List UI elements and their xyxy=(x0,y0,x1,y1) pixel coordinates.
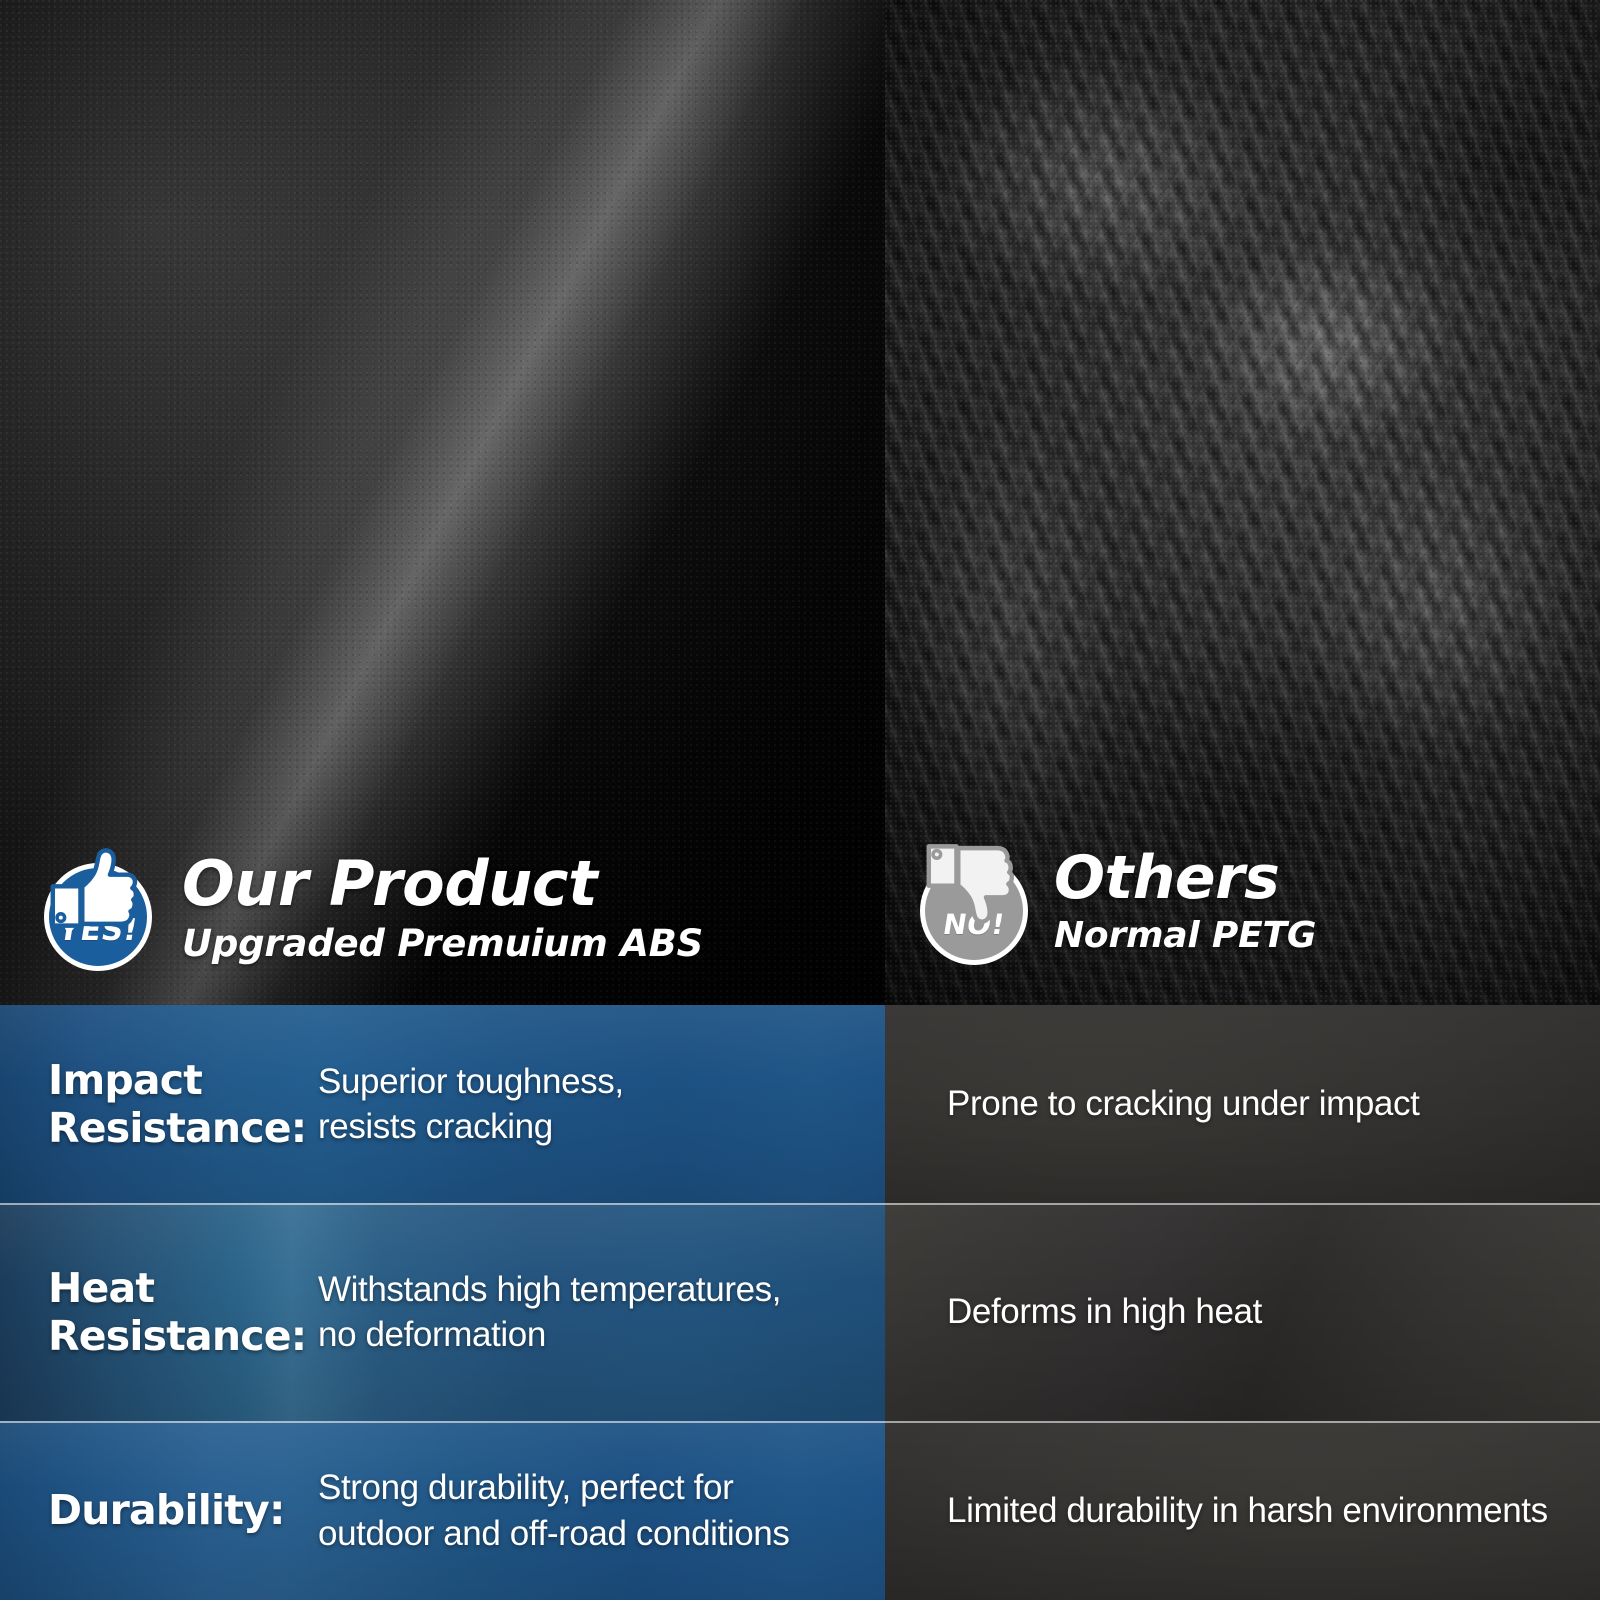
row-2-our-value-line-1: Withstands high temperatures, xyxy=(318,1270,781,1309)
others-title: Others xyxy=(1054,848,1316,908)
table-row: Durability: Strong durability, perfect f… xyxy=(0,1421,1600,1600)
row-3-others-cell: Limited durability in harsh environments xyxy=(885,1421,1600,1600)
our-product-subtitle: Upgraded Premuium ABS xyxy=(182,925,703,962)
row-1-label: Impact Resistance: xyxy=(0,1056,318,1153)
row-1-label-line-1: Impact xyxy=(48,1056,202,1104)
row-2-label-line-2: Resistance: xyxy=(48,1312,306,1360)
table-row: Heat Resistance: Withstands high tempera… xyxy=(0,1203,1600,1421)
others-badge-group: NO! Others Normal PETG xyxy=(920,845,1316,957)
row-2-others-cell: Deforms in high heat xyxy=(885,1203,1600,1421)
yes-badge: YES! xyxy=(44,851,156,963)
row-2-our-product-cell: Heat Resistance: Withstands high tempera… xyxy=(0,1203,885,1421)
thumbs-up-icon xyxy=(48,847,138,931)
row-1-label-line-2: Resistance: xyxy=(48,1104,306,1152)
row-3-our-value-line-2: outdoor and off-road conditions xyxy=(318,1514,789,1553)
row-divider-1 xyxy=(0,1203,1600,1205)
row-1-our-value-line-1: Superior toughness, xyxy=(318,1062,624,1101)
hero-photo-band: YES! Our Product Upgraded Premuium ABS xyxy=(0,0,1600,1005)
table-row: Impact Resistance: Superior toughness, r… xyxy=(0,1005,1600,1203)
no-badge: NO! xyxy=(920,845,1032,957)
row-1-others-cell: Prone to cracking under impact xyxy=(885,1005,1600,1203)
row-2-our-value: Withstands high temperatures, no deforma… xyxy=(318,1267,811,1358)
row-divider-2 xyxy=(0,1421,1600,1423)
row-2-our-value-line-2: no deformation xyxy=(318,1315,546,1354)
comparison-table: Impact Resistance: Superior toughness, r… xyxy=(0,1005,1600,1600)
row-3-label: Durability: xyxy=(0,1486,318,1534)
row-3-our-value: Strong durability, perfect for outdoor a… xyxy=(318,1465,819,1556)
row-1-our-product-cell: Impact Resistance: Superior toughness, r… xyxy=(0,1005,885,1203)
our-product-text-block: Our Product Upgraded Premuium ABS xyxy=(182,853,703,962)
product-comparison-infographic: YES! Our Product Upgraded Premuium ABS xyxy=(0,0,1600,1600)
thumbs-down-icon xyxy=(924,841,1014,925)
our-product-badge-group: YES! Our Product Upgraded Premuium ABS xyxy=(44,851,703,963)
others-subtitle: Normal PETG xyxy=(1054,918,1316,954)
row-3-label-line-1: Durability: xyxy=(48,1486,285,1534)
row-3-our-product-cell: Durability: Strong durability, perfect f… xyxy=(0,1421,885,1600)
row-2-label-line-1: Heat xyxy=(48,1264,154,1312)
row-3-our-value-line-1: Strong durability, perfect for xyxy=(318,1468,733,1507)
others-text-block: Others Normal PETG xyxy=(1054,848,1316,954)
row-1-our-value-line-2: resists cracking xyxy=(318,1107,553,1146)
row-2-label: Heat Resistance: xyxy=(0,1264,318,1361)
row-1-others-value: Prone to cracking under impact xyxy=(885,1081,1439,1127)
our-product-title: Our Product xyxy=(182,853,703,915)
row-2-others-value: Deforms in high heat xyxy=(885,1289,1282,1335)
row-1-our-value: Superior toughness, resists cracking xyxy=(318,1059,654,1150)
row-3-others-value: Limited durability in harsh environments xyxy=(885,1488,1568,1534)
